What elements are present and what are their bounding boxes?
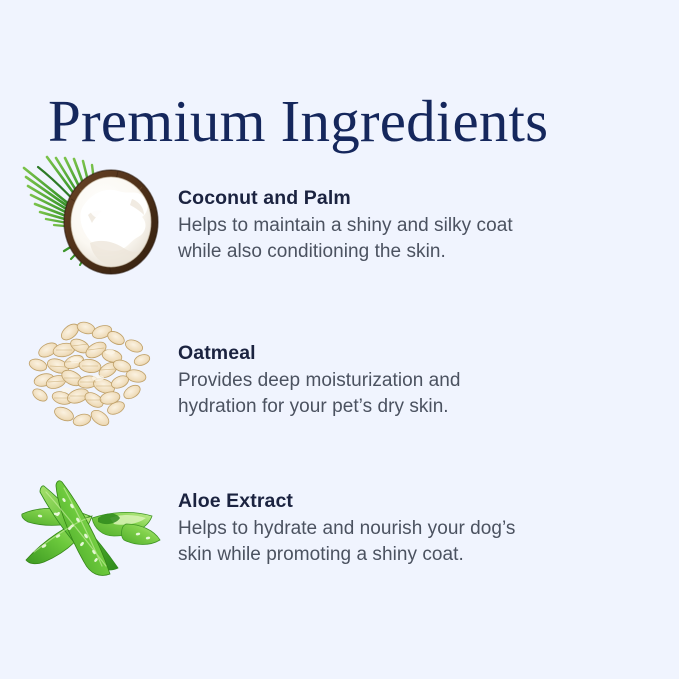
ingredient-title: Oatmeal [178, 341, 648, 365]
ingredient-item-aloe-extract: Aloe Extract Helps to hydrate and nouris… [0, 462, 679, 592]
coconut-palm-image [14, 155, 166, 285]
page-title: Premium Ingredients [48, 92, 548, 151]
ingredient-text-aloe-extract: Aloe Extract Helps to hydrate and nouris… [178, 489, 648, 567]
ingredient-text-oatmeal: Oatmeal Provides deep moisturization and… [178, 341, 648, 419]
ingredient-item-coconut-and-palm: Coconut and Palm Helps to maintain a shi… [0, 155, 679, 285]
ingredient-description: Provides deep moisturization and hydrati… [178, 368, 648, 419]
aloe-extract-image [14, 462, 166, 592]
premium-ingredients-page: Premium Ingredients [0, 0, 679, 679]
oatmeal-image [14, 310, 166, 440]
ingredient-title: Coconut and Palm [178, 186, 648, 210]
ingredient-description: Helps to maintain a shiny and silky coat… [178, 213, 648, 264]
ingredient-title: Aloe Extract [178, 489, 648, 513]
ingredient-text-coconut-and-palm: Coconut and Palm Helps to maintain a shi… [178, 186, 648, 264]
ingredient-item-oatmeal: Oatmeal Provides deep moisturization and… [0, 310, 679, 440]
ingredient-description: Helps to hydrate and nourish your dog’s … [178, 516, 648, 567]
